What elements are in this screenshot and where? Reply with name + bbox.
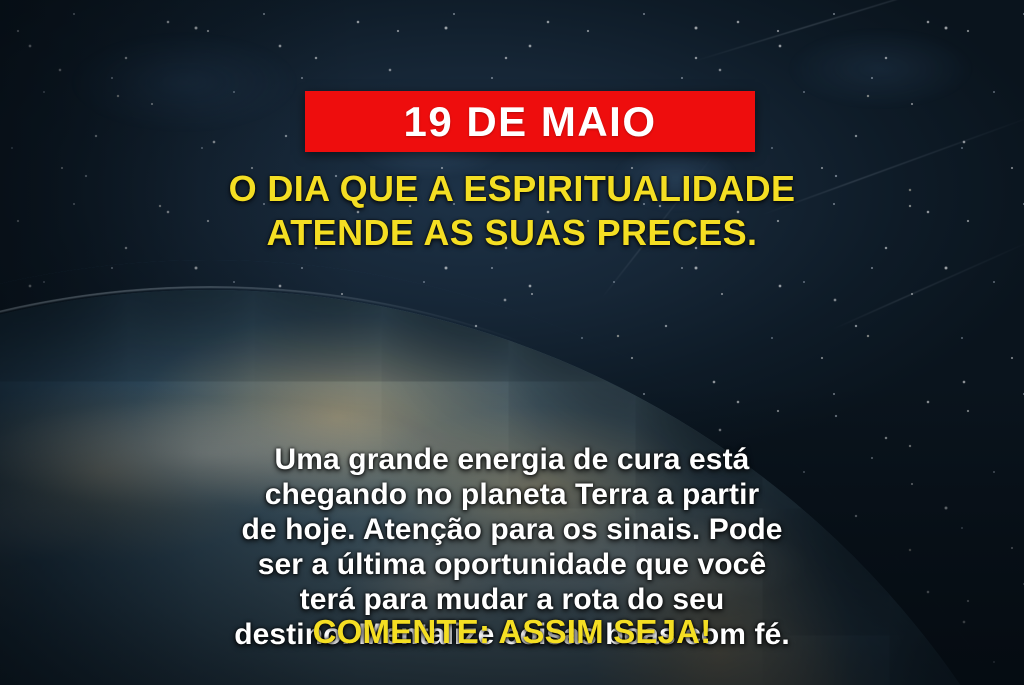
headline-line-1: O DIA QUE A ESPIRITUALIDADE [0, 167, 1024, 211]
headline: O DIA QUE A ESPIRITUALIDADE ATENDE AS SU… [0, 167, 1024, 255]
body-line-1: Uma grande energia de cura está [0, 443, 1024, 478]
poster-content: 19 DE MAIO O DIA QUE A ESPIRITUALIDADE A… [0, 0, 1024, 685]
poster-image: 19 DE MAIO O DIA QUE A ESPIRITUALIDADE A… [0, 0, 1024, 685]
date-banner-text: 19 DE MAIO [403, 101, 656, 143]
body-line-4: ser a última oportunidade que você [0, 548, 1024, 583]
date-banner: 19 DE MAIO [305, 91, 755, 152]
headline-line-2: ATENDE AS SUAS PRECES. [0, 211, 1024, 255]
call-to-action-text: COMENTE: ASSIM SEJA! [0, 614, 1024, 650]
body-line-3: de hoje. Atenção para os sinais. Pode [0, 513, 1024, 548]
body-line-2: chegando no planeta Terra a partir [0, 478, 1024, 513]
